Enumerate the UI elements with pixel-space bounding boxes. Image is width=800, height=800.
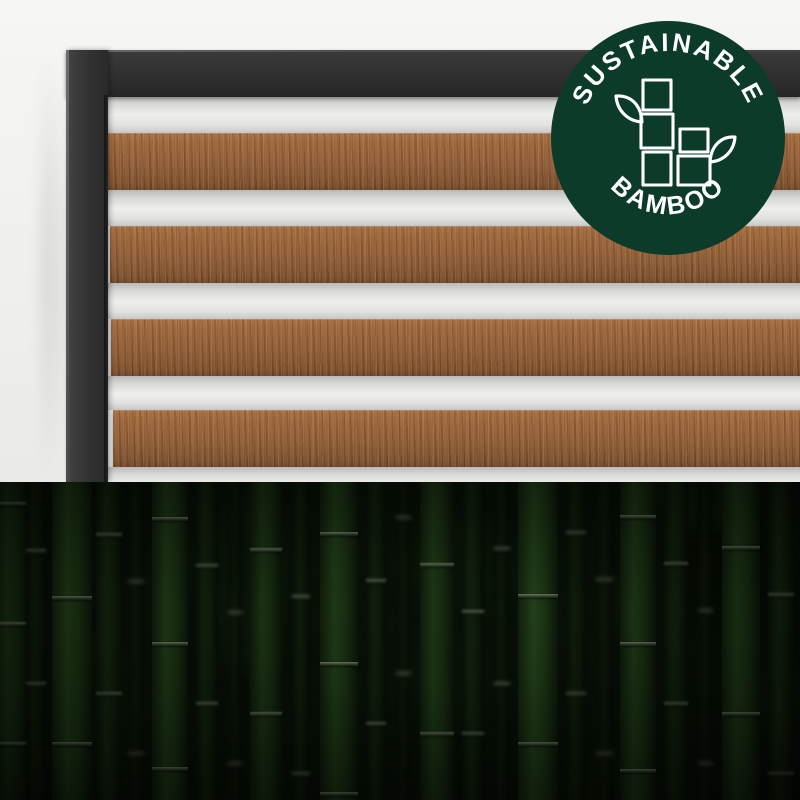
slat-gap	[108, 467, 800, 482]
sustainable-bamboo-badge: SUSTAINABLE BAMBOO	[551, 21, 785, 255]
slat-gap	[108, 376, 800, 410]
aluminium-frame-left-highlight	[66, 50, 69, 482]
frame-inner-shadow	[104, 95, 109, 482]
aluminium-frame-left-post	[66, 50, 108, 482]
slat-gap	[108, 283, 800, 319]
bamboo-slat	[113, 410, 800, 467]
marketing-image: SUSTAINABLE BAMBOO	[0, 0, 800, 800]
product-photo-section: SUSTAINABLE BAMBOO	[0, 0, 800, 482]
feature-list: DURABLE & STRONG EASY TO CLEAN BEAUTIFUL…	[0, 482, 800, 800]
bamboo-slat	[111, 319, 800, 376]
